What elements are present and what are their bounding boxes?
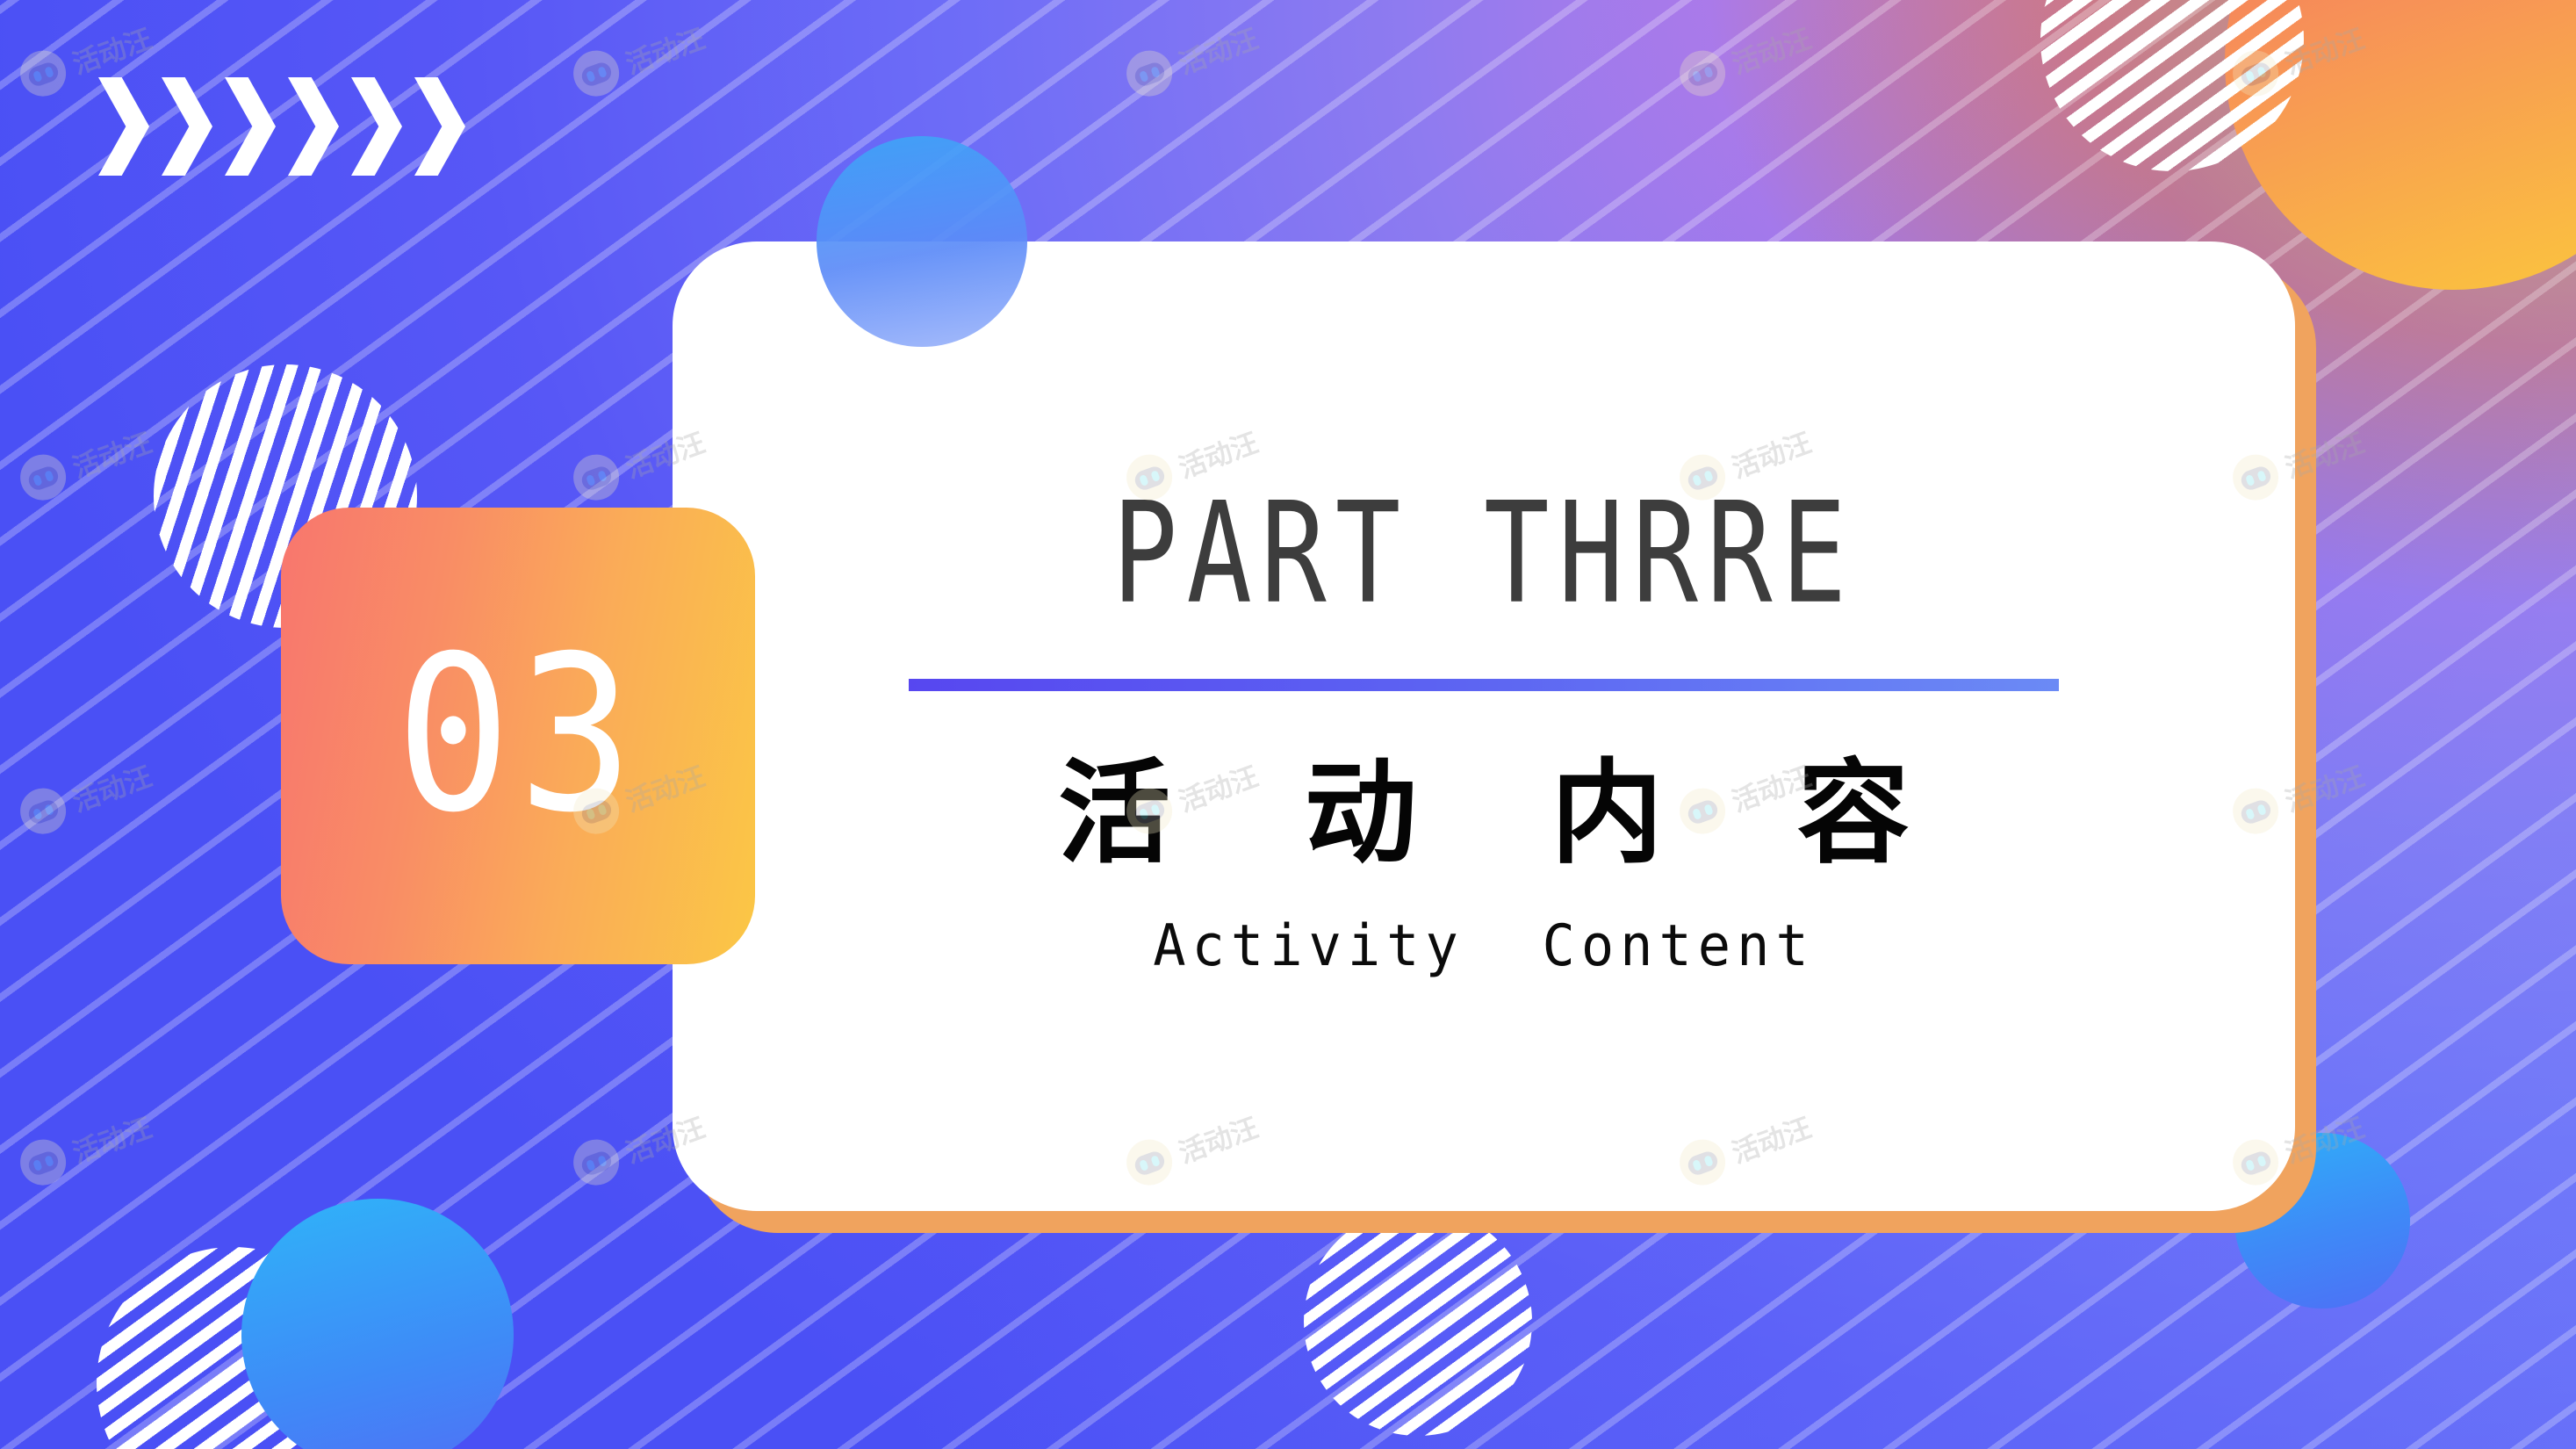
chevron-right-icon: [162, 77, 212, 176]
section-title-chinese: 活 动 内 容: [1011, 747, 1957, 880]
circle-bottom-center-striped: [1304, 1207, 1532, 1436]
chevron-right-icon: [351, 77, 402, 176]
section-number-badge: 03: [281, 508, 755, 964]
chevron-arrow-group: [98, 77, 465, 176]
chevron-right-icon: [414, 77, 465, 176]
part-title-english: PART THRRE: [1112, 485, 1856, 624]
section-number-label: 03: [396, 629, 641, 843]
content-card-body: PART THRRE 活 动 内 容 Activity Content: [673, 241, 2295, 1211]
chevron-right-icon: [288, 77, 339, 176]
chevron-right-icon: [98, 77, 149, 176]
chevron-right-icon: [225, 77, 276, 176]
presentation-slide: PART THRRE 活 动 内 容 Activity Content 03 活…: [0, 0, 2576, 1449]
title-divider: [909, 679, 2059, 691]
section-subtitle-english: Activity Content: [1153, 912, 1815, 979]
